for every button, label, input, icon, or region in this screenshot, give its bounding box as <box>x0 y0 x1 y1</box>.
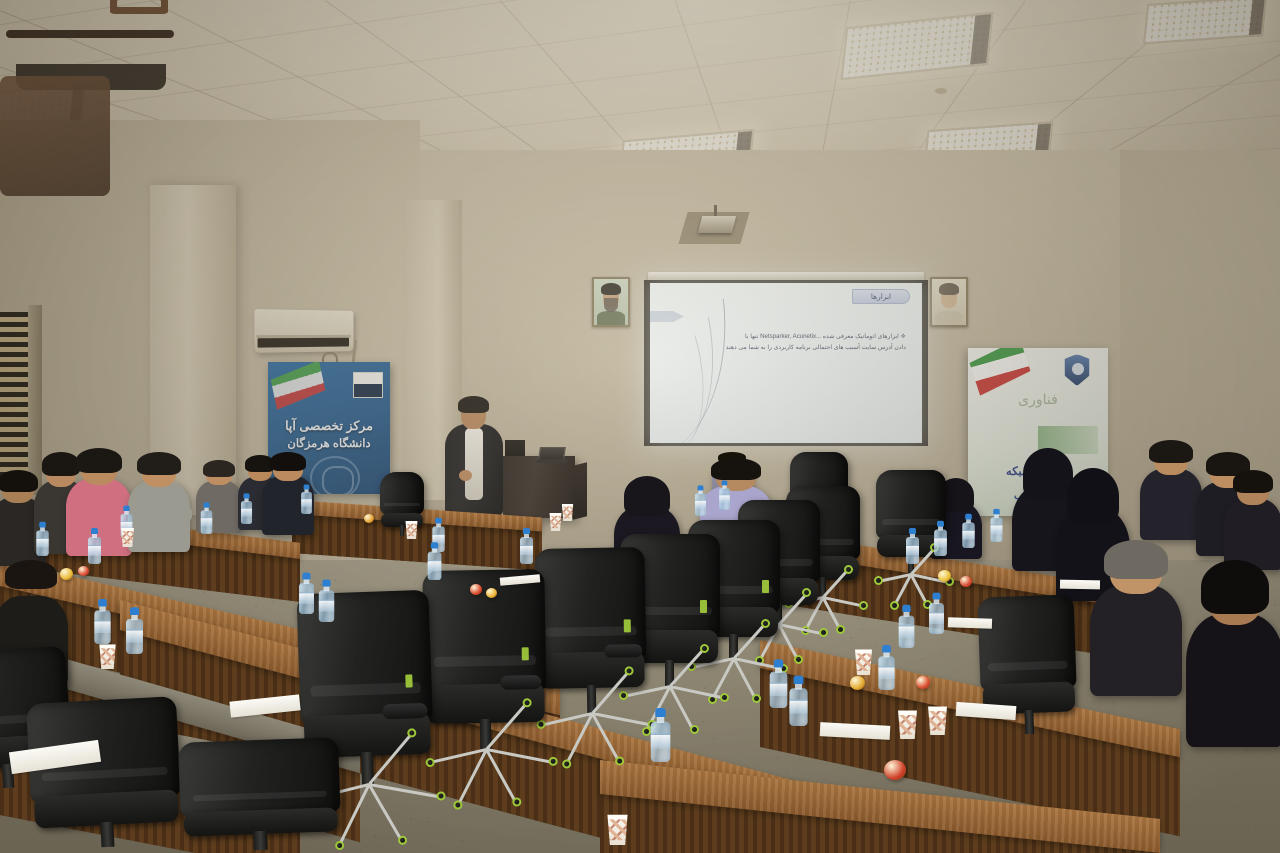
podium-side-panel <box>573 462 587 519</box>
floor-speck <box>1232 753 1234 755</box>
cup-rim <box>561 504 575 507</box>
fruit-orange <box>486 588 497 598</box>
chair-caster <box>859 601 868 610</box>
chair-base-star <box>879 571 943 580</box>
water-bottle <box>962 514 974 548</box>
water-bottle <box>991 509 1003 542</box>
fruit-orange <box>850 676 865 690</box>
bottle-cap <box>523 528 530 534</box>
water-bottle <box>241 493 252 524</box>
bag-zipper <box>6 30 174 38</box>
bottle-label <box>241 508 252 516</box>
bottle-cap <box>909 528 916 534</box>
attendee-right-3 <box>1224 470 1280 566</box>
bottle-label <box>899 625 915 637</box>
chair-armrest[interactable] <box>500 675 542 689</box>
chair-caster <box>794 655 803 664</box>
attendee-left-grey <box>128 452 190 548</box>
banner-left-logo <box>353 372 383 398</box>
bottle-cap <box>882 645 891 653</box>
attendee-left-pink-hair <box>76 448 122 473</box>
floor-speck <box>644 736 646 738</box>
presenter-hand <box>459 470 472 481</box>
bottle-label <box>201 517 212 526</box>
framed-portrait-left <box>592 277 630 327</box>
bottle-cap <box>130 607 139 615</box>
bottle-cap <box>322 580 330 587</box>
floor-speck <box>1093 701 1095 703</box>
portrait-left-head <box>601 283 621 295</box>
cup-rim <box>120 528 135 531</box>
chair-leg <box>369 783 441 799</box>
floor-speck <box>255 606 257 608</box>
chair-backrest <box>977 594 1076 690</box>
water-bottle <box>719 480 730 510</box>
floor-speck <box>420 842 422 844</box>
banner-left-emblem <box>310 456 360 494</box>
water-bottle <box>906 528 919 564</box>
cup-pattern <box>607 818 628 840</box>
floor-speck <box>803 646 805 648</box>
floor-speck <box>272 601 274 603</box>
bottle-label <box>428 560 442 571</box>
slide-bullet-line-2: دادن آدرس سایت آسیب های احتمالی برنامه ک… <box>694 342 906 353</box>
floor-speck <box>777 757 779 759</box>
bottle-label <box>878 666 894 679</box>
floor-speck <box>429 845 431 847</box>
bottle-cap <box>993 509 999 515</box>
attendee-left-front-hair <box>5 560 57 589</box>
bottle-cap <box>435 518 442 524</box>
bottle-cap <box>302 573 310 580</box>
paper-handout <box>948 617 992 629</box>
floor-speck <box>556 832 558 834</box>
cup-rim <box>98 644 118 648</box>
chair-gas-post[interactable] <box>253 831 268 851</box>
attendee-lavender-shirt-hair <box>711 458 761 480</box>
bottle-cap <box>431 542 438 548</box>
water-bottle <box>789 676 807 726</box>
water-bottle <box>94 599 110 644</box>
floor-speck <box>967 636 969 638</box>
floor-speck <box>365 846 367 848</box>
cup-pattern <box>562 506 574 519</box>
chair-caster <box>836 625 845 634</box>
cup-rim <box>548 513 562 516</box>
fruit-apple <box>916 676 930 689</box>
cup-rim <box>404 521 418 524</box>
bottle-label <box>651 734 671 749</box>
iran-flag-icon-right <box>970 348 1031 396</box>
chair-front-left-2[interactable] <box>178 737 342 853</box>
chair-caster <box>700 644 709 653</box>
floor-speck <box>461 840 463 842</box>
cup-pattern <box>405 523 417 536</box>
presenter-laptop <box>537 447 567 463</box>
chair-caster <box>890 601 899 610</box>
bottle-label <box>319 600 334 612</box>
water-bottle <box>695 485 706 516</box>
bottle-cap <box>655 708 666 717</box>
water-bottle <box>899 605 915 648</box>
chair-caster <box>752 694 761 703</box>
chair-leg <box>486 748 552 764</box>
presenter <box>443 396 505 516</box>
conference-room-photo: ابزارها ❖ ابزارهای اتوماتیک معرفی شده ..… <box>0 0 1280 853</box>
floor-speck <box>366 804 368 806</box>
water-bottle <box>36 522 48 556</box>
water-bottle <box>201 502 212 534</box>
chair-front-left-1[interactable] <box>26 696 184 853</box>
floor-speck <box>375 812 377 814</box>
floor-speck <box>1086 674 1088 676</box>
slide-title: ابزارها <box>852 289 910 304</box>
floor-speck <box>874 645 876 647</box>
chair-armrest[interactable] <box>604 644 642 657</box>
slide-bullet-block: ❖ ابزارهای اتوماتیک معرفی شده ...Netspar… <box>694 331 906 354</box>
attendee-left-suit-2-hair <box>270 452 306 471</box>
attendee-hijab-center-hair <box>624 476 670 516</box>
cup-rim <box>896 711 919 716</box>
floor-speck <box>850 637 852 639</box>
floor-speck <box>821 637 823 639</box>
chair-far-left-1[interactable] <box>380 472 424 542</box>
attendee-left-grey-arm <box>162 504 192 524</box>
floor-speck <box>203 591 205 593</box>
chair-caster <box>819 628 828 637</box>
floor-speck <box>1226 757 1228 759</box>
floor-speck <box>1255 825 1257 827</box>
attendee-left-back-hair <box>203 460 235 477</box>
laptop-keyboard <box>536 459 568 463</box>
water-bottle <box>428 542 442 580</box>
cup-pattern <box>855 652 873 671</box>
ac-vent <box>258 338 349 348</box>
water-bottle <box>299 573 314 614</box>
water-bottle <box>929 593 944 634</box>
floor-speck <box>374 836 376 838</box>
bottle-label <box>906 545 919 555</box>
floor-speck <box>713 738 715 740</box>
bottle-cap <box>244 493 250 498</box>
projection-screen: ابزارها ❖ ابزارهای اتوماتیک معرفی شده ..… <box>650 283 922 443</box>
banner-left-line-1: مرکز تخصصی آپا <box>268 418 390 433</box>
bottle-cap <box>932 593 940 600</box>
bottle-cap <box>98 599 107 607</box>
attendee-left-1-hair <box>0 470 38 492</box>
water-bottle <box>319 580 334 622</box>
bottle-label <box>929 612 944 624</box>
attendee-left-grey-hair <box>137 452 180 475</box>
floor-speck <box>921 658 923 660</box>
bottle-label <box>36 538 48 548</box>
floor-speck <box>1249 783 1251 785</box>
chair-caster <box>562 759 571 768</box>
chair-base-star <box>430 745 542 763</box>
bottle-cap <box>965 514 972 520</box>
ceiling-projector <box>698 216 736 233</box>
bottle-label <box>991 525 1003 534</box>
bottle-cap <box>304 484 310 489</box>
fruit-apple <box>960 576 972 587</box>
chair-armrest[interactable] <box>382 703 427 719</box>
chair-center-2[interactable] <box>422 569 547 767</box>
chair-center-3[interactable] <box>534 547 647 729</box>
floor-speck <box>1129 714 1131 716</box>
bottle-cap <box>774 659 783 667</box>
attendee-grey-hair <box>1090 540 1182 690</box>
bag-handle <box>110 0 168 14</box>
cup-pattern <box>928 710 948 731</box>
floor-speck <box>410 818 412 820</box>
slide-bullet-marker: ❖ <box>901 333 906 340</box>
chair-label-tag <box>405 674 412 687</box>
bottle-cap <box>91 528 98 534</box>
chair-lumbar-seam <box>434 655 537 667</box>
attendee-right-front-body <box>1186 614 1280 747</box>
iran-flag-icon-left <box>271 362 326 410</box>
attendee-right-front-hair <box>1201 560 1270 614</box>
floor-speck <box>414 583 416 585</box>
bottle-label <box>719 494 730 502</box>
water-bottle <box>770 659 788 708</box>
framed-portrait-right <box>930 277 968 327</box>
chair-right-2[interactable] <box>977 594 1078 747</box>
bottle-label <box>94 620 110 633</box>
floor-speck <box>1113 705 1115 707</box>
water-bottle <box>934 521 947 556</box>
bottle-label <box>301 498 312 506</box>
smoke-detector-icon <box>935 88 947 94</box>
bottle-cap <box>203 502 209 507</box>
floor-speck <box>407 575 409 577</box>
shield-emblem-icon <box>1064 354 1090 386</box>
portrait-right-body <box>935 311 964 325</box>
bottle-cap <box>722 480 728 485</box>
chair-backrest <box>380 472 424 515</box>
fruit-banana <box>938 570 951 582</box>
fruit-apple <box>78 566 89 576</box>
bottle-label <box>934 537 947 547</box>
attendee-grey-hair-body <box>1090 585 1182 696</box>
bottle-label <box>962 530 974 540</box>
bottle-cap <box>794 676 804 684</box>
cup-pattern <box>99 647 116 665</box>
presenter-hair <box>458 396 489 413</box>
slide-bullet-line-1: ابزارهای اتوماتیک معرفی شده ...Netsparke… <box>745 333 899 340</box>
floor-speck <box>692 736 694 738</box>
chair-backrest <box>178 737 340 817</box>
portrait-left-body <box>597 311 626 325</box>
chair-caster <box>690 725 699 734</box>
cup-rim <box>926 707 949 712</box>
floor-speck <box>786 772 788 774</box>
chair-label-tag <box>700 600 707 613</box>
floor-speck <box>820 611 822 613</box>
bottle-label <box>299 592 314 604</box>
attendee-right-1 <box>1140 440 1202 536</box>
paper-handout <box>1060 580 1100 590</box>
portrait-right-head <box>939 283 959 295</box>
floor-speck <box>1237 806 1239 808</box>
cup-rim <box>853 649 873 653</box>
attendee-right-1-hair <box>1149 440 1192 463</box>
floor-speck <box>940 655 942 657</box>
chair-caster <box>624 666 633 675</box>
bottle-label <box>126 629 143 642</box>
banner-right-script: فناوری <box>968 392 1108 408</box>
fruit-banana-cluster <box>60 568 73 580</box>
cup-rim <box>606 815 630 820</box>
attendee-grey-hair-hair <box>1104 540 1168 579</box>
chair-backrest <box>422 569 546 693</box>
chair-label-tag <box>762 580 769 593</box>
chair-caster <box>522 698 531 707</box>
floor-speck <box>418 850 420 852</box>
floor-speck <box>1224 811 1226 813</box>
floor-speck <box>1240 785 1242 787</box>
chair-caster <box>615 756 624 765</box>
bottle-label <box>88 545 101 555</box>
floor-speck <box>1113 701 1115 703</box>
chair-gas-post[interactable] <box>100 821 115 847</box>
attendee-right-3-hair <box>1233 470 1274 493</box>
bottle-label <box>770 682 788 696</box>
presenter-shirt <box>465 428 483 500</box>
chair-leg <box>592 712 652 726</box>
bottle-label <box>789 699 807 713</box>
chair-caster <box>761 619 770 628</box>
attendee-right-front <box>1186 560 1280 740</box>
floor-speck <box>1219 810 1221 812</box>
bottle-cap <box>937 521 944 527</box>
floor-speck <box>334 579 336 581</box>
chair-caster <box>874 576 883 585</box>
attendee-chador-2-hair <box>1067 468 1119 524</box>
bottle-label <box>520 545 533 555</box>
water-bottle <box>520 528 533 564</box>
chair-label-tag <box>521 648 528 661</box>
floor-speck <box>861 628 863 630</box>
floor-speck <box>428 821 430 823</box>
chair-caster <box>642 727 651 736</box>
water-bottle <box>301 484 312 514</box>
bag-right-edge <box>0 76 110 196</box>
attendee-right-1-body <box>1140 469 1202 540</box>
chair-lumbar-seam <box>384 503 421 507</box>
cup-pattern <box>121 530 134 544</box>
floor-speck <box>1270 850 1272 852</box>
chair-gas-post[interactable] <box>1025 710 1034 734</box>
chair-label-tag <box>624 619 631 632</box>
air-conditioner-unit <box>254 309 353 353</box>
fruit-apple <box>470 584 482 595</box>
chair-caster <box>720 693 729 702</box>
chair-base-star <box>542 709 643 725</box>
chair-lumbar-seam <box>882 519 941 525</box>
bottle-cap <box>698 485 704 490</box>
chair-gas-post[interactable] <box>400 525 404 536</box>
banner-left-line-2: دانشگاه هرمزگان <box>268 436 390 450</box>
cup-pattern <box>898 714 918 735</box>
water-bottle <box>88 528 101 564</box>
cup-pattern <box>549 515 561 528</box>
floor-speck <box>1247 749 1249 751</box>
water-bottle <box>126 607 143 654</box>
floor-speck <box>702 721 704 723</box>
bottle-cap <box>39 522 46 528</box>
water-bottle <box>651 708 671 762</box>
bottle-cap <box>123 506 129 511</box>
floor-speck <box>799 759 801 761</box>
chair-caster <box>844 565 853 574</box>
bottle-cap <box>902 605 910 612</box>
water-bottle <box>878 645 894 690</box>
bottle-label <box>695 500 706 509</box>
floor-speck <box>965 641 967 643</box>
